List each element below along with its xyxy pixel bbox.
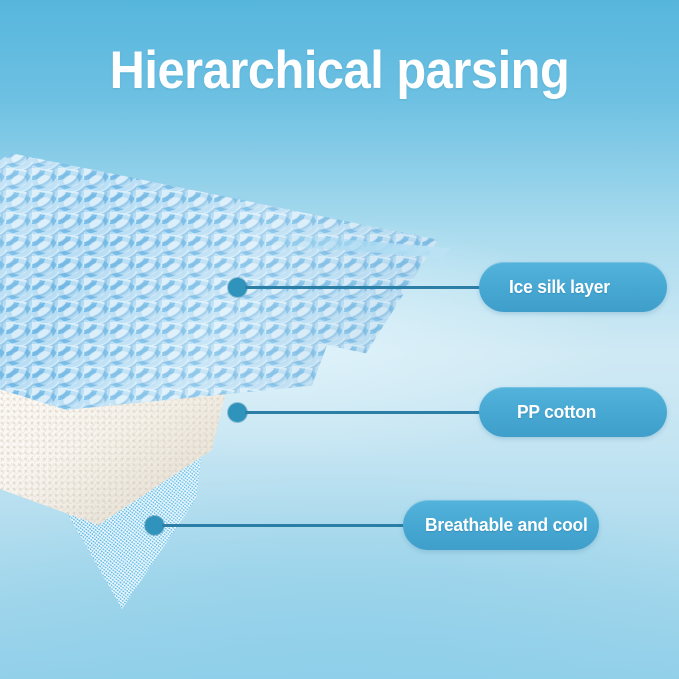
callout-leader-line [245,286,483,289]
callout-ice-silk-layer: Ice silk layer [228,262,667,312]
callout-pp-cotton: PP cotton [228,387,667,437]
callout-leader-line [162,524,407,527]
callout-label-text: PP cotton [517,401,596,423]
callout-label-pill: PP cotton [479,387,667,437]
callout-label-text: Breathable and cool [425,514,588,536]
infographic-canvas: Hierarchical parsing Ice silk layer PP c… [0,0,679,679]
callout-breathable-and-cool: Breathable and cool [145,500,599,550]
callout-label-pill: Ice silk layer [479,262,667,312]
callout-label-text: Ice silk layer [509,276,610,298]
callout-leader-line [245,411,483,414]
product-layer-stack [0,0,679,679]
callout-label-pill: Breathable and cool [403,500,599,550]
